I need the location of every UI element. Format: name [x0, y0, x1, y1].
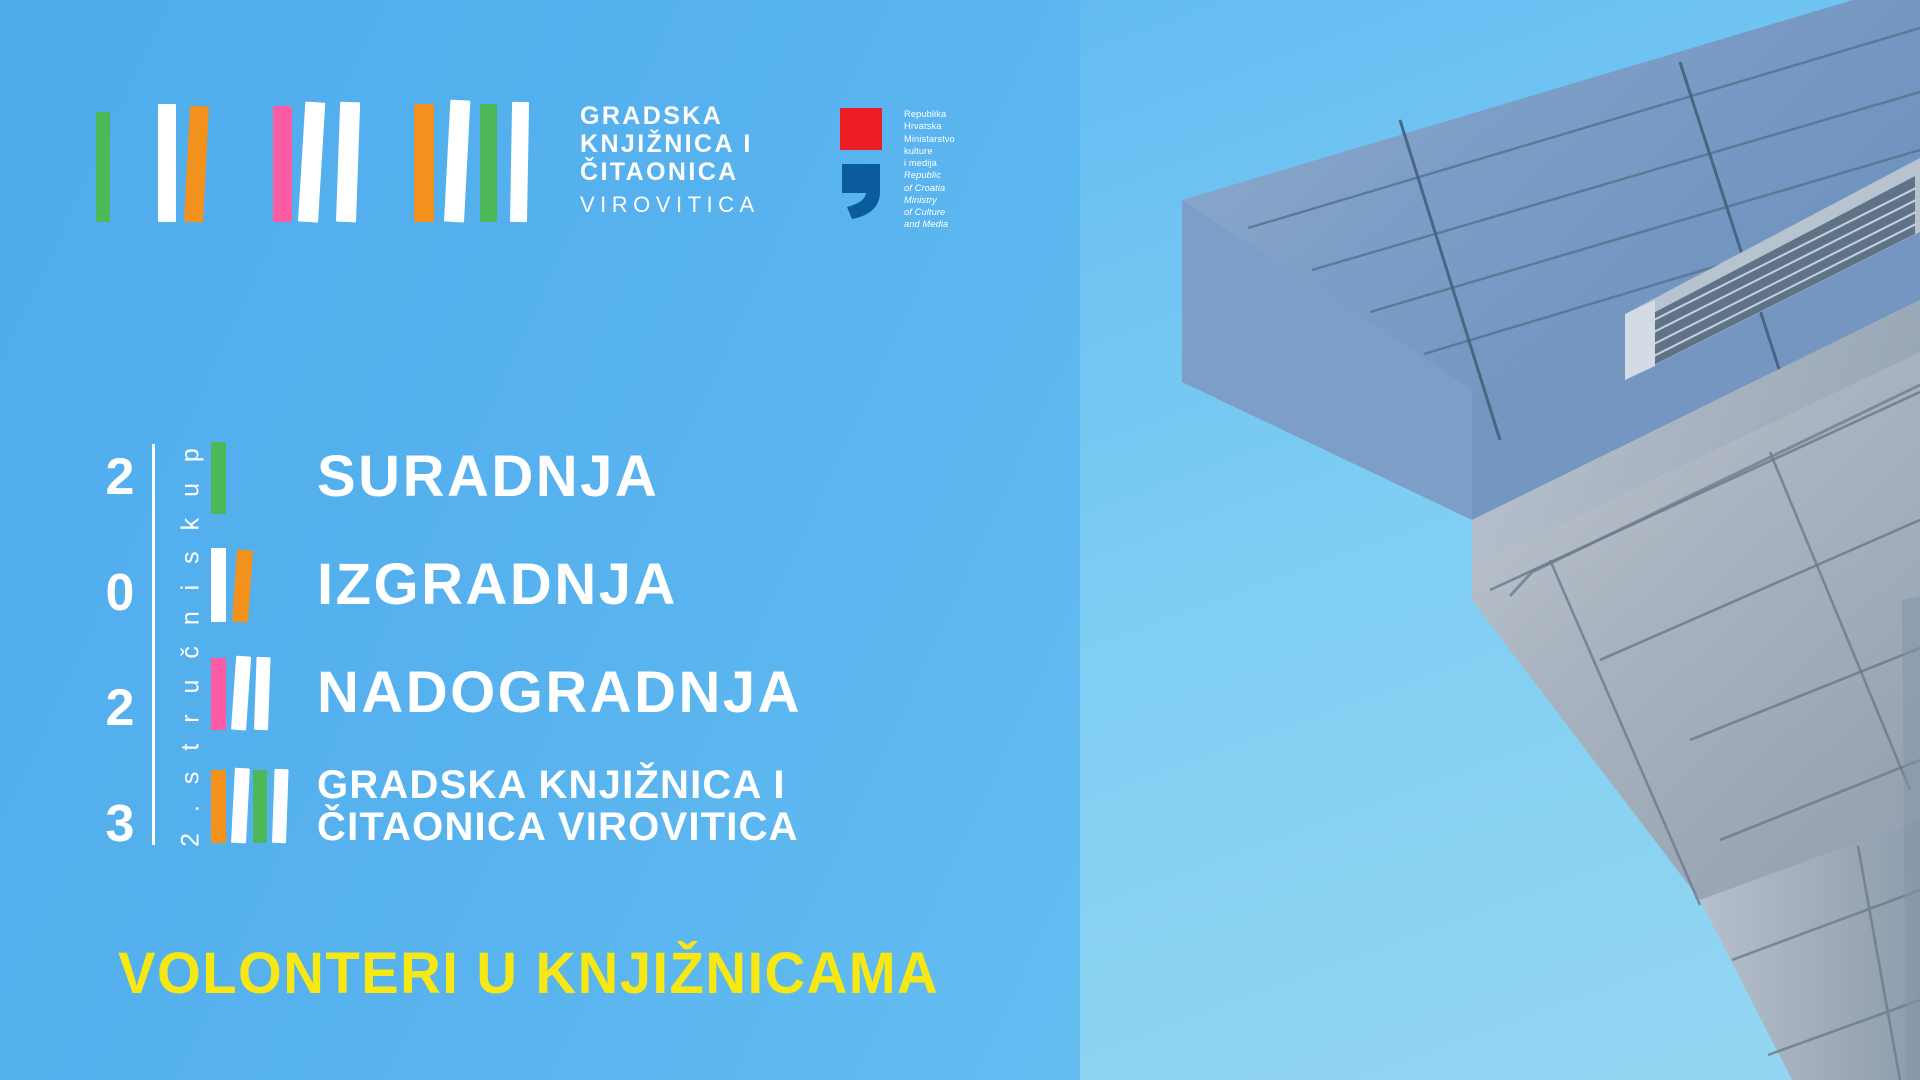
ministry-logo: Republika Hrvatska Ministarstvo kulture … [840, 108, 955, 231]
year-digit: 2 [96, 677, 144, 739]
book-bar [211, 770, 226, 843]
ministry-hr-2: Hrvatska [904, 120, 955, 132]
ministry-en-4: of Culture [904, 206, 955, 218]
programme-row: NADOGRADNJA [211, 656, 802, 730]
ministry-mark [840, 108, 894, 225]
row-title-wrapper: SURADNJA [317, 448, 659, 506]
book-bar [158, 104, 176, 222]
ministry-hr-4: kulture [904, 145, 955, 157]
logo-line-3: ČITAONICA [580, 158, 760, 186]
logo-line-4: VIROVITICA [580, 193, 760, 218]
book-bar [211, 548, 226, 622]
book-bar [232, 550, 253, 623]
book-bar [273, 106, 292, 222]
row-book-bars [211, 656, 295, 730]
row-title: SURADNJA [317, 448, 659, 506]
ministry-en-5: and Media [904, 218, 955, 230]
ministry-hr-1: Republika [904, 108, 955, 120]
row-spacer [211, 622, 802, 656]
book-bar [510, 102, 529, 222]
row-book-bars [211, 769, 295, 843]
book-bar [253, 770, 267, 843]
row-title-wrapper: NADOGRADNJA [317, 664, 802, 722]
ministry-text: Republika Hrvatska Ministarstvo kulture … [904, 108, 955, 231]
event-edition-label: 2 . s t r u č n i s k u p [171, 440, 211, 849]
building-photograph [1080, 0, 1920, 1080]
poster-tagline: VOLONTERI U KNJIŽNICAMA [118, 940, 939, 1007]
poster-canvas: GRADSKA KNJIŽNICA I ČITAONICA VIROVITICA… [0, 0, 1920, 1080]
year-digit: 0 [96, 562, 144, 624]
ministry-en-1: Republic [904, 169, 955, 181]
book-bar [444, 100, 470, 223]
ministry-hr-3: Ministarstvo [904, 133, 955, 145]
row-book-bars [211, 440, 295, 514]
year-digit: 3 [96, 793, 144, 855]
book-bar [414, 104, 434, 222]
programme-rows: SURADNJAIZGRADNJANADOGRADNJAGRADSKA KNJI… [211, 440, 802, 865]
programme-row: SURADNJA [211, 440, 802, 514]
row-title: GRADSKA KNJIŽNICA I [317, 764, 799, 806]
book-bar [211, 442, 226, 514]
main-content: 2023 2 . s t r u č n i s k u p SURADNJAI… [96, 440, 802, 865]
row-title-second-line: ČITAONICA VIROVITICA [317, 806, 799, 848]
year-column: 2023 [96, 440, 144, 865]
row-title: NADOGRADNJA [317, 664, 802, 722]
row-title-wrapper: IZGRADNJA [317, 556, 678, 614]
ministry-red-square-icon [840, 108, 882, 150]
book-bar [480, 104, 497, 222]
vertical-divider-rule [152, 444, 155, 845]
book-bar [298, 102, 325, 223]
ministry-comma-icon [840, 162, 894, 225]
year-digit: 2 [96, 446, 144, 508]
logo-book-bars [96, 100, 546, 222]
row-title: IZGRADNJA [317, 556, 678, 614]
book-bar [254, 657, 271, 730]
ministry-hr-5: i medija [904, 157, 955, 169]
programme-row: IZGRADNJA [211, 548, 802, 622]
book-bar [184, 106, 209, 223]
book-bar [231, 768, 250, 844]
programme-row: GRADSKA KNJIŽNICA IČITAONICA VIROVITICA [211, 764, 802, 849]
logo-line-2: KNJIŽNICA I [580, 130, 760, 158]
logo-line-1: GRADSKA [580, 102, 760, 130]
book-bar [96, 112, 110, 222]
ministry-en-2: of Croatia [904, 182, 955, 194]
ministry-en-3: Ministry [904, 194, 955, 206]
book-bar [336, 102, 360, 223]
row-spacer [211, 730, 802, 764]
book-bar [272, 769, 289, 843]
book-bar [211, 658, 226, 730]
row-book-bars [211, 548, 295, 622]
library-logo: GRADSKA KNJIŽNICA I ČITAONICA VIROVITICA [96, 100, 760, 222]
building-shape [1080, 0, 1920, 1080]
book-bar [231, 656, 251, 731]
library-logo-text: GRADSKA KNJIŽNICA I ČITAONICA VIROVITICA [580, 102, 760, 218]
row-spacer [211, 514, 802, 548]
row-title-wrapper: GRADSKA KNJIŽNICA IČITAONICA VIROVITICA [317, 764, 799, 849]
event-edition-text: 2 . s t r u č n i s k u p [177, 442, 206, 848]
